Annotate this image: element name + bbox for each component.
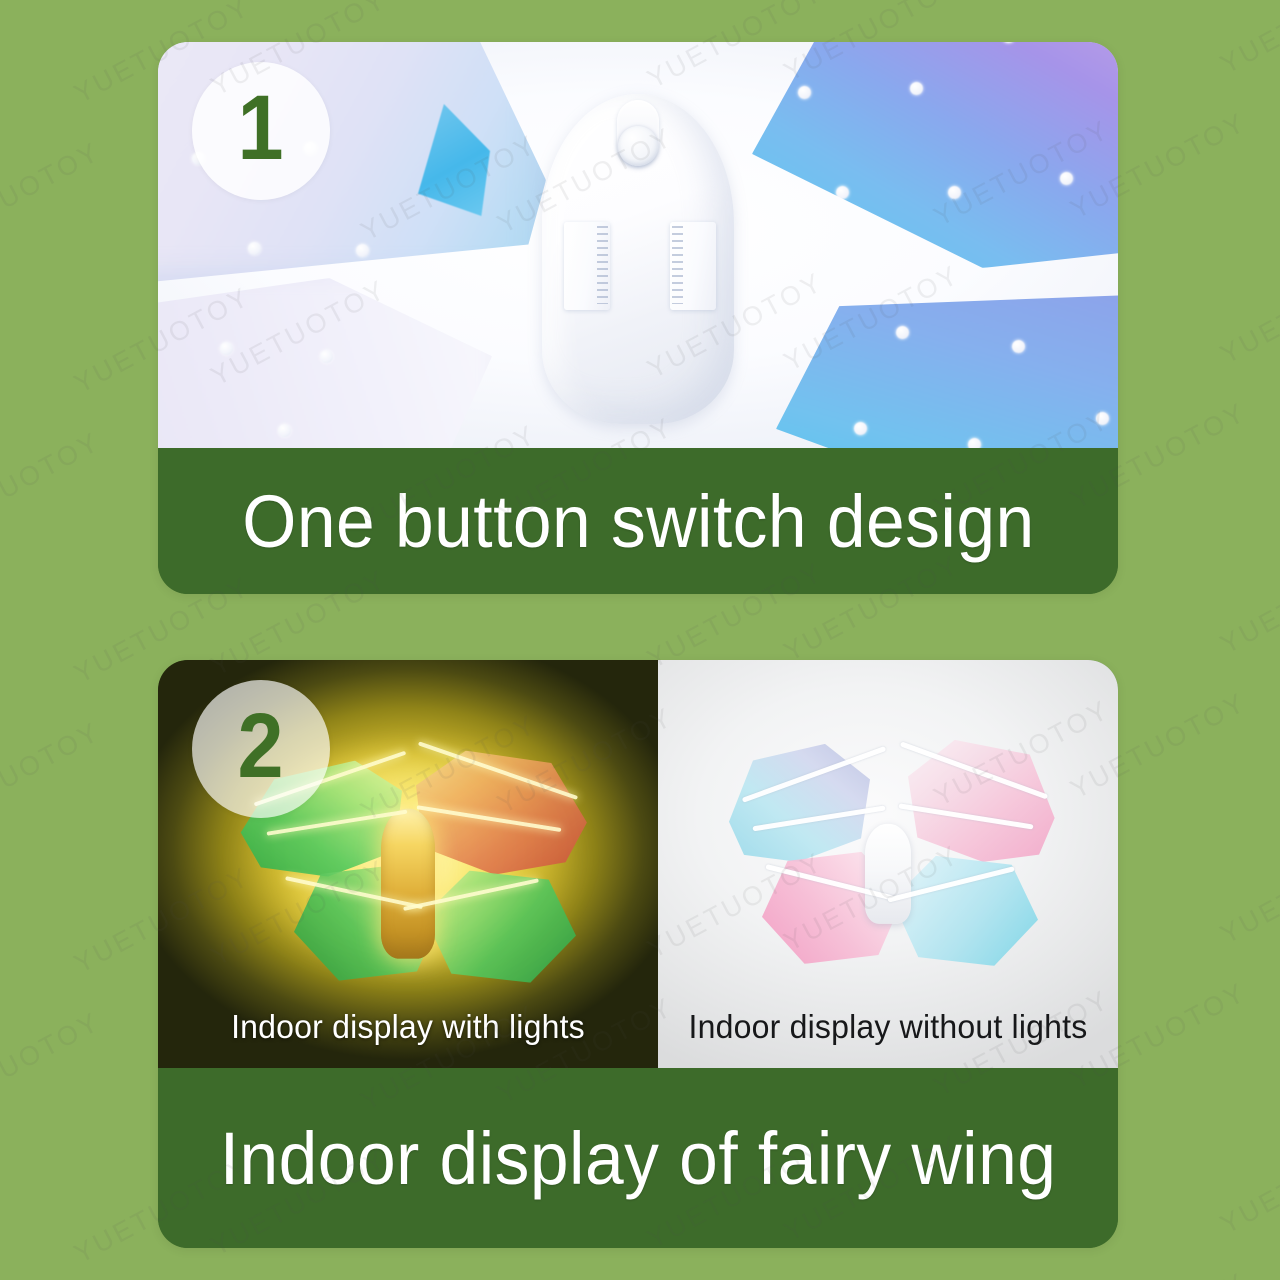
- unlit-wing-upper-right: [908, 740, 1064, 862]
- step-number-label: 2: [238, 700, 284, 792]
- card-one-caption-bar: One button switch design: [158, 448, 1118, 594]
- led-dot: [320, 350, 333, 363]
- led-dot: [910, 82, 923, 95]
- card-two-caption-bar: Indoor display of fairy wing: [158, 1068, 1118, 1248]
- led-dot: [854, 422, 867, 435]
- wing-cyan-edge: [418, 104, 490, 216]
- unlit-wing-lower-right: [892, 856, 1038, 966]
- wing-clip-right: [670, 222, 716, 310]
- card-one-caption-text: One button switch design: [242, 479, 1034, 564]
- wing-clip-left: [564, 222, 610, 310]
- panel-without-lights: Indoor display without lights: [658, 660, 1118, 1068]
- card-step-one: 1 One button switch design: [158, 42, 1118, 594]
- led-dot: [948, 186, 961, 199]
- switch-housing: [542, 94, 734, 424]
- led-dot: [896, 326, 909, 339]
- power-button-knob: [618, 126, 658, 166]
- clip-teeth: [597, 226, 608, 304]
- led-dot: [220, 342, 233, 355]
- panel-without-lights-label: Indoor display without lights: [665, 1008, 1111, 1046]
- led-dot: [798, 86, 811, 99]
- wing-panel-top-right: [752, 42, 1118, 268]
- unlit-butterfly: [690, 728, 1086, 980]
- step-badge-one: 1: [192, 62, 330, 200]
- led-dot: [1060, 172, 1073, 185]
- led-dot: [278, 424, 291, 437]
- unlit-butterfly-body: [865, 824, 911, 924]
- step-number-label: 1: [238, 82, 284, 174]
- step-badge-two: 2: [192, 680, 330, 818]
- card-step-two: Indoor display with lights Indo: [158, 660, 1118, 1248]
- led-dot: [1012, 340, 1025, 353]
- wing-panel-bottom-left: [158, 278, 492, 448]
- led-dot: [836, 186, 849, 199]
- clip-teeth: [672, 226, 683, 304]
- led-dot: [968, 438, 981, 448]
- led-dot: [356, 244, 369, 257]
- lit-butterfly-body: [381, 809, 435, 959]
- panel-with-lights-label: Indoor display with lights: [166, 1008, 651, 1046]
- card-two-photo: Indoor display with lights Indo: [158, 660, 1118, 1068]
- card-one-photo: 1: [158, 42, 1118, 448]
- infographic-page: 1 One button switch design: [0, 0, 1280, 1280]
- wing-panel-bottom-right: [776, 292, 1118, 448]
- card-two-caption-text: Indoor display of fairy wing: [220, 1116, 1057, 1201]
- led-dot: [248, 242, 261, 255]
- led-dot: [1096, 412, 1109, 425]
- led-dot: [1002, 42, 1015, 43]
